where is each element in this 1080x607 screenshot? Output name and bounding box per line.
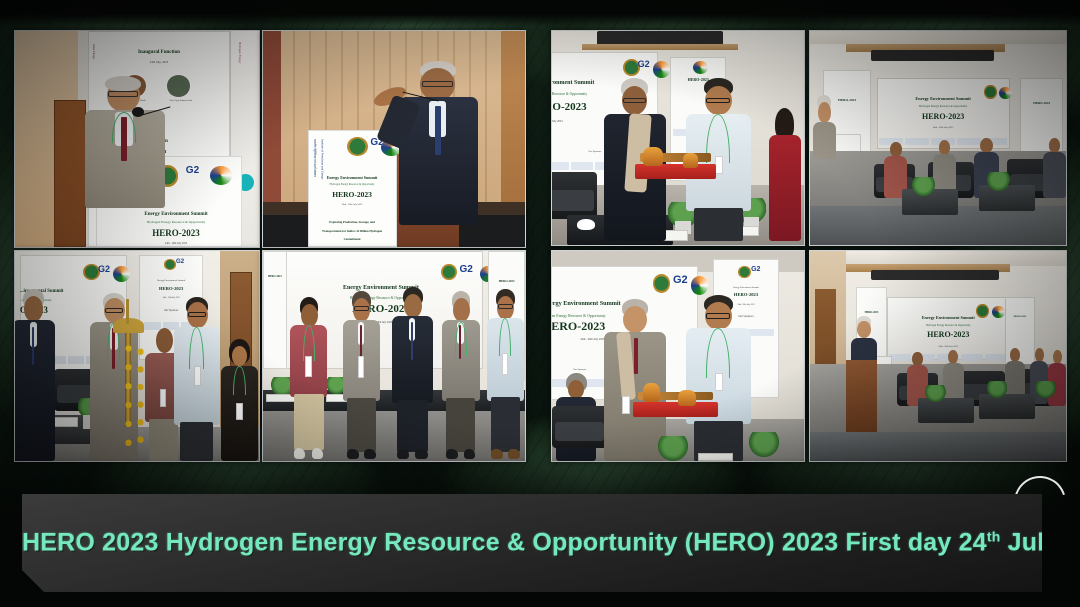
slide-canvas: Inaugural Function 24th July, 2023 Dr. M… <box>0 0 1080 607</box>
top-gradient-wash <box>0 0 1080 26</box>
sponsor-logo <box>747 329 774 336</box>
photo-chief-guest-podium-address: भारतीय पेट्रोलियम एवं ऊर्जा संस्थान Inst… <box>262 30 526 248</box>
caption-banner: HERO 2023 Hydrogen Energy Resource & Opp… <box>22 494 1042 592</box>
sponsor-logo <box>905 138 929 145</box>
photo-inaugural-address-speaker: Inaugural Function 24th July, 2023 Dr. M… <box>14 30 260 248</box>
photo-opening-session-hall-wide: Energy Environment Summit Hydrogen Energ… <box>809 250 1067 462</box>
sponsor-logo <box>551 162 569 171</box>
photo-delegates-group-photo: G2 Energy Environment Summit Hydrogen En… <box>262 250 526 462</box>
photo-lamp-lighting-ceremony: G2 ...ironmental Summit ...Resource & Op… <box>14 250 260 462</box>
photo-memento-presentation-shawl: G2 ...ironment Summit ...gy Resource & O… <box>551 30 805 246</box>
sponsor-logo <box>68 356 85 364</box>
photo-panel-session-stage-wide: Energy Environment Summit Hydrogen Energ… <box>809 30 1067 246</box>
caption-text: HERO 2023 Hydrogen Energy Resource & Opp… <box>22 528 1042 557</box>
caption-text-before: HERO 2023 Hydrogen Energy Resource & Opp… <box>22 529 987 557</box>
caption-superscript: th <box>987 528 1001 544</box>
sponsor-logo <box>961 354 983 361</box>
sponsor-logo <box>571 162 593 171</box>
photo-memento-presentation-second: G2 ...nergy Environment Summit ...drogen… <box>551 250 805 462</box>
